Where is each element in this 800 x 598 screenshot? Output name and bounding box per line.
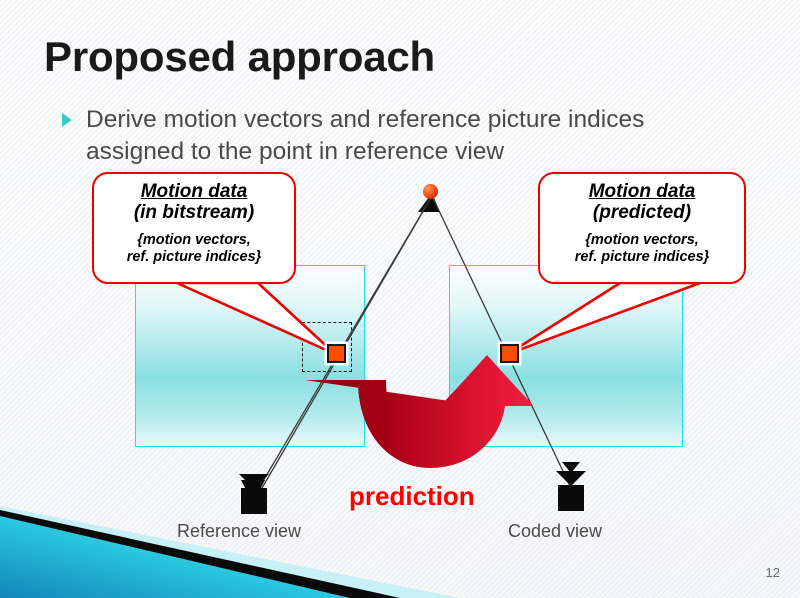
callout-right-detail-line2: ref. picture indices}: [546, 249, 738, 266]
camera-body-shape: [558, 485, 584, 511]
reference-view-label: Reference view: [177, 521, 301, 542]
camera-body-shape: [241, 488, 267, 514]
callout-right-subheading: (predicted): [546, 202, 738, 224]
prediction-curved-arrow: [305, 355, 533, 468]
slide-number: 12: [766, 565, 780, 580]
coded-block-marker: [500, 344, 519, 363]
callout-tail-left: [177, 283, 335, 354]
callout-motion-data-predicted: Motion data (predicted) {motion vectors,…: [538, 172, 746, 284]
camera-lens-shape: [556, 471, 586, 486]
callout-left-heading: Motion data: [100, 181, 288, 202]
camera-lens-shape: [239, 474, 269, 489]
reference-block-marker: [327, 344, 346, 363]
callout-right-heading: Motion data: [546, 181, 738, 202]
callout-right-detail-line1: {motion vectors,: [546, 232, 738, 249]
callout-tail-right: [508, 283, 700, 354]
callout-left-detail-line1: {motion vectors,: [100, 232, 288, 249]
slide-canvas: Proposed approach Derive motion vectors …: [0, 0, 800, 598]
callout-motion-data-bitstream: Motion data (in bitstream) {motion vecto…: [92, 172, 296, 284]
coded-view-label: Coded view: [508, 521, 602, 542]
reference-view-camera-icon: [236, 474, 272, 514]
callout-left-subheading: (in bitstream): [100, 202, 288, 224]
callout-left-detail-line2: ref. picture indices}: [100, 249, 288, 266]
coded-view-camera-icon: [553, 462, 589, 511]
corner-decoration-graphic: [0, 506, 460, 598]
prediction-label: prediction: [349, 481, 475, 512]
scene-point-sphere: [423, 184, 438, 199]
